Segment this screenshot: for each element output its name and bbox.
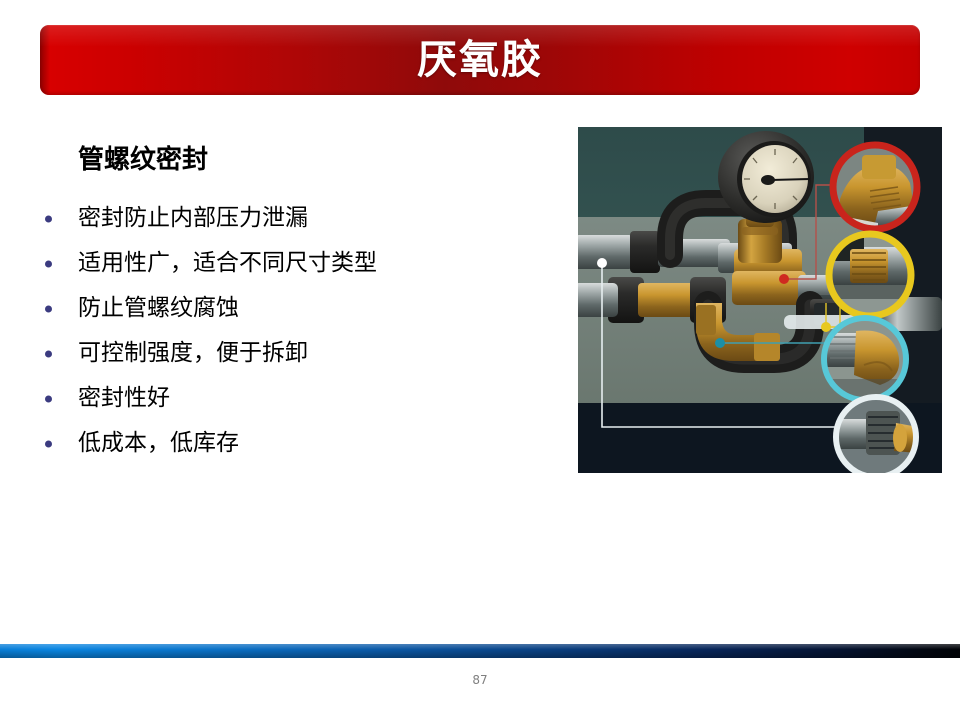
bullet-dot-icon [45, 440, 52, 447]
page-number: 87 [0, 673, 960, 687]
feature-bullet-list: 密封防止内部压力泄漏 适用性广，适合不同尺寸类型 防止管螺纹腐蚀 可控制强度，便… [40, 196, 540, 466]
list-item: 密封性好 [40, 376, 540, 421]
list-item-label: 防止管螺纹腐蚀 [78, 296, 239, 321]
yellow-callout-circle [828, 233, 912, 317]
bullet-dot-icon [45, 305, 52, 312]
list-item-label: 可控制强度，便于拆卸 [78, 341, 308, 366]
bullet-dot-icon [45, 395, 52, 402]
footer-accent-bar [0, 644, 960, 658]
list-item: 低成本，低库存 [40, 421, 540, 466]
red-callout-circle [833, 145, 918, 231]
section-subheading: 管螺纹密封 [78, 146, 208, 175]
bullet-dot-icon [45, 350, 52, 357]
white-callout-circle [836, 397, 918, 473]
list-item: 适用性广，适合不同尺寸类型 [40, 241, 540, 286]
list-item-label: 低成本，低库存 [78, 431, 239, 456]
list-item: 密封防止内部压力泄漏 [40, 196, 540, 241]
list-item: 防止管螺纹腐蚀 [40, 286, 540, 331]
bullet-dot-icon [45, 215, 52, 222]
list-item-label: 密封性好 [78, 386, 170, 411]
page-title: 厌氧胶 [40, 25, 920, 95]
title-banner: 厌氧胶 [40, 25, 920, 95]
list-item-label: 适用性广，适合不同尺寸类型 [78, 251, 377, 276]
list-item-label: 密封防止内部压力泄漏 [78, 206, 308, 231]
pipe-assembly-photo [578, 127, 942, 473]
list-item: 可控制强度，便于拆卸 [40, 331, 540, 376]
cyan-callout-circle [823, 317, 907, 401]
slide-canvas: 厌氧胶 管螺纹密封 密封防止内部压力泄漏 适用性广，适合不同尺寸类型 防止管螺纹… [0, 0, 960, 720]
bullet-dot-icon [45, 260, 52, 267]
